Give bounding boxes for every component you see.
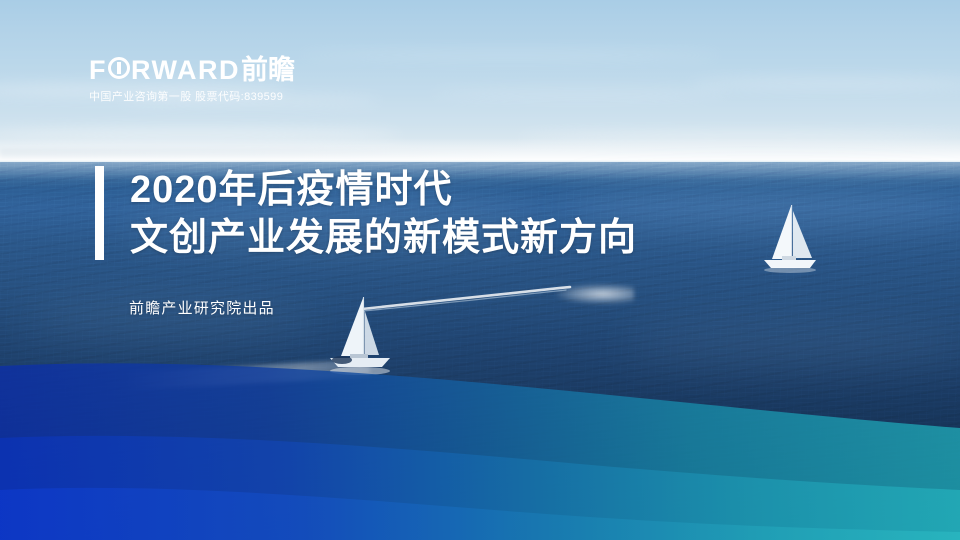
- byline: 前瞻产业研究院出品: [129, 297, 275, 318]
- title-block: 2020年后疫情时代 文创产业发展的新模式新方向: [95, 166, 637, 262]
- cloud-streak: [430, 90, 730, 98]
- logo-wordmark: F RWARD 前瞻: [89, 55, 295, 85]
- logo-chinese-name: 前瞻: [241, 55, 295, 85]
- page-title: 2020年后疫情时代 文创产业发展的新模式新方向: [130, 166, 637, 262]
- cloud-streak: [690, 78, 960, 89]
- wake-spray: [556, 284, 634, 304]
- title-line-1: 2020年后疫情时代: [130, 166, 637, 214]
- logo-word-suffix: RWARD: [131, 55, 240, 85]
- forward-circle-o-icon: [108, 57, 130, 79]
- horizon-haze: [0, 138, 960, 163]
- sailboat-right: [752, 203, 824, 275]
- forward-logo: F RWARD 前瞻 中国产业咨询第一股 股票代码:839599: [89, 55, 295, 104]
- logo-word-prefix: F: [89, 55, 107, 85]
- title-line-2: 文创产业发展的新模式新方向: [130, 214, 637, 262]
- cover-slide: F RWARD 前瞻 中国产业咨询第一股 股票代码:839599 2020年后疫…: [0, 0, 960, 540]
- logo-subtitle: 中国产业咨询第一股 股票代码:839599: [89, 88, 295, 104]
- title-accent-bar: [95, 166, 104, 260]
- cloud-streak: [300, 50, 720, 60]
- color-overlay-bands: [0, 350, 960, 540]
